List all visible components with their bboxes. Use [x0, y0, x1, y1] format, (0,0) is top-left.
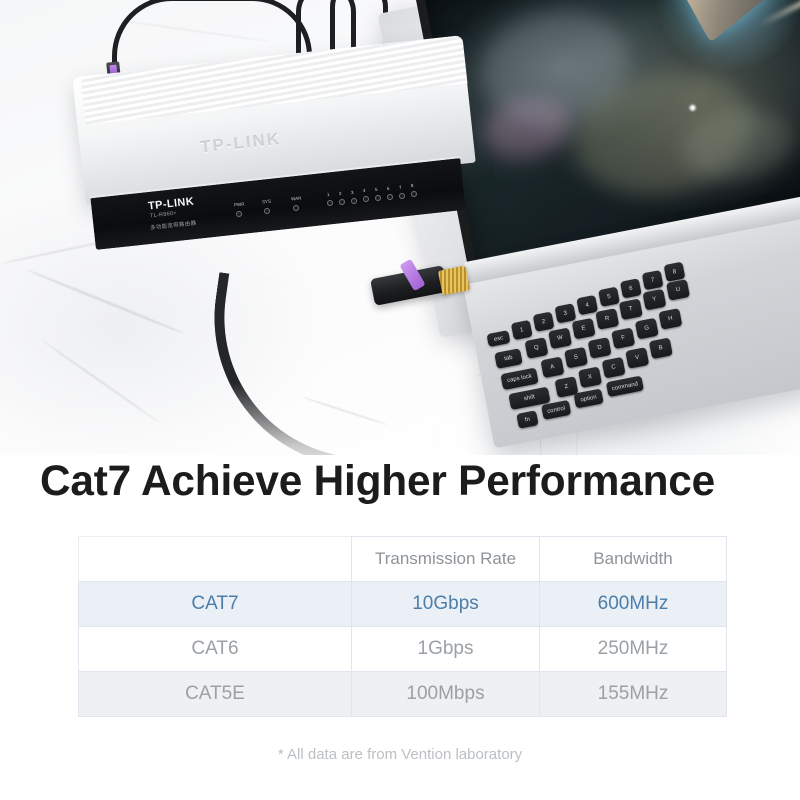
- port-number: 7: [399, 185, 402, 190]
- keyboard-key-c[interactable]: C: [602, 357, 626, 379]
- keyboard-key-a[interactable]: A: [540, 356, 564, 378]
- marble-vein: [26, 268, 185, 334]
- cell-bandwidth: 250MHz: [540, 627, 727, 672]
- keyboard-key-s[interactable]: S: [564, 347, 588, 369]
- header-cell-bandwidth: Bandwidth: [540, 537, 727, 582]
- page-title: Cat7 Achieve Higher Performance: [40, 459, 755, 503]
- port-number: 2: [339, 191, 342, 196]
- gold-contacts: [438, 266, 470, 296]
- cat7-cable: [195, 272, 457, 455]
- keyboard-key-caps-lock[interactable]: caps lock: [500, 368, 538, 391]
- cell-bandwidth: 155MHz: [540, 672, 727, 717]
- keyboard-key-1[interactable]: 1: [511, 320, 533, 340]
- keyboard-key-g[interactable]: G: [635, 318, 659, 340]
- cell-bandwidth: 600MHz: [540, 582, 727, 627]
- port-number: 8: [411, 183, 414, 188]
- keyboard-key-v[interactable]: V: [625, 347, 649, 369]
- port-number: 3: [351, 190, 354, 195]
- keyboard-key-6[interactable]: 6: [620, 278, 642, 298]
- table-header-row: Transmission Rate Bandwidth: [79, 537, 727, 582]
- marble-vein: [42, 340, 158, 422]
- keyboard-key-b[interactable]: B: [649, 337, 673, 359]
- keyboard-key-7[interactable]: 7: [642, 270, 664, 290]
- keyboard-key-w[interactable]: W: [548, 328, 572, 350]
- cell-category: CAT5E: [79, 672, 352, 717]
- keyboard-key-e[interactable]: E: [572, 318, 596, 340]
- port-number: 5: [375, 187, 378, 192]
- keyboard-key-2[interactable]: 2: [533, 312, 555, 332]
- header-cell-blank: [79, 537, 352, 582]
- table-row: CAT6 1Gbps 250MHz: [79, 627, 727, 672]
- comparison-table: Transmission Rate Bandwidth CAT7 10Gbps …: [78, 536, 727, 717]
- header-cell-transmission-rate: Transmission Rate: [352, 537, 540, 582]
- product-photo: esc12345678tabQWERTYUcaps lockASDFGHshif…: [0, 0, 800, 455]
- cell-rate: 1Gbps: [352, 627, 540, 672]
- keyboard-key-t[interactable]: T: [619, 298, 643, 320]
- keyboard-key-4[interactable]: 4: [576, 295, 598, 315]
- cell-rate: 10Gbps: [352, 582, 540, 627]
- keyboard-key-h[interactable]: H: [658, 308, 682, 330]
- port-number: 6: [387, 186, 390, 191]
- led-label-sys: SYS: [262, 199, 272, 205]
- port-number: 1: [327, 192, 330, 197]
- keyboard-key-d[interactable]: D: [588, 337, 612, 359]
- cell-category: CAT6: [79, 627, 352, 672]
- keyboard-key-y[interactable]: Y: [642, 289, 666, 311]
- keyboard-key-3[interactable]: 3: [554, 303, 576, 323]
- port-number: 4: [363, 188, 366, 193]
- keyboard-key-r[interactable]: R: [595, 308, 619, 330]
- table-row: CAT7 10Gbps 600MHz: [79, 582, 727, 627]
- keyboard-key-f[interactable]: F: [611, 327, 635, 349]
- keyboard-key-tab[interactable]: tab: [494, 348, 523, 369]
- cell-rate: 100Mbps: [352, 672, 540, 717]
- product-banner: esc12345678tabQWERTYUcaps lockASDFGHshif…: [0, 0, 800, 800]
- keyboard-key-esc[interactable]: esc: [486, 330, 510, 347]
- keyboard-key-u[interactable]: U: [666, 279, 690, 301]
- footnote: * All data are from Vention laboratory: [0, 746, 800, 763]
- table-row: CAT5E 100Mbps 155MHz: [79, 672, 727, 717]
- keyboard-key-q[interactable]: Q: [524, 337, 548, 359]
- keyboard-key-x[interactable]: X: [578, 366, 602, 388]
- cell-category: CAT7: [79, 582, 352, 627]
- keyboard-key-5[interactable]: 5: [598, 287, 620, 307]
